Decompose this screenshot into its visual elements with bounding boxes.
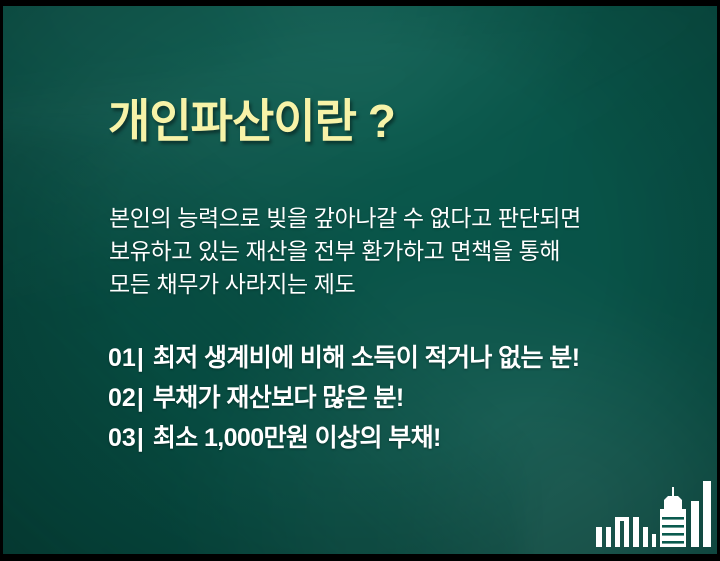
point-text: 최저 생계비에 비해 소득이 적거나 없는 분! (153, 338, 580, 374)
slide-content: 개인파산이란 ? 본인의 능력으로 빚을 갚아나갈 수 없다고 판단되면 보유하… (108, 6, 717, 554)
point-text: 최소 1,000만원 이상의 부채! (153, 418, 441, 454)
point-separator: | (137, 424, 144, 453)
point-separator: | (137, 344, 144, 373)
city-skyline-icon (596, 481, 714, 547)
list-item: 02 | 부채가 재산보다 많은 분! (108, 378, 579, 418)
description-paragraph: 본인의 능력으로 빚을 갚아나갈 수 없다고 판단되면 보유하고 있는 재산을 … (109, 202, 581, 301)
list-item: 03 | 최소 1,000만원 이상의 부채! (108, 418, 579, 458)
description-line-1: 본인의 능력으로 빚을 갚아나갈 수 없다고 판단되면 (109, 202, 581, 235)
description-line-2: 보유하고 있는 재산을 전부 환가하고 면책을 통해 (109, 235, 581, 268)
description-line-3: 모든 채무가 사라지는 제도 (109, 268, 581, 301)
point-number: 03 (108, 424, 136, 453)
slide-canvas: 개인파산이란 ? 본인의 능력으로 빚을 갚아나갈 수 없다고 판단되면 보유하… (0, 0, 720, 561)
point-text: 부채가 재산보다 많은 분! (153, 378, 404, 414)
point-separator: | (137, 384, 144, 413)
list-item: 01 | 최저 생계비에 비해 소득이 적거나 없는 분! (108, 338, 579, 378)
point-number: 01 (108, 344, 136, 373)
points-list: 01 | 최저 생계비에 비해 소득이 적거나 없는 분! 02 | 부채가 재… (108, 338, 579, 458)
point-number: 02 (108, 384, 136, 413)
page-title: 개인파산이란 ? (108, 85, 395, 151)
